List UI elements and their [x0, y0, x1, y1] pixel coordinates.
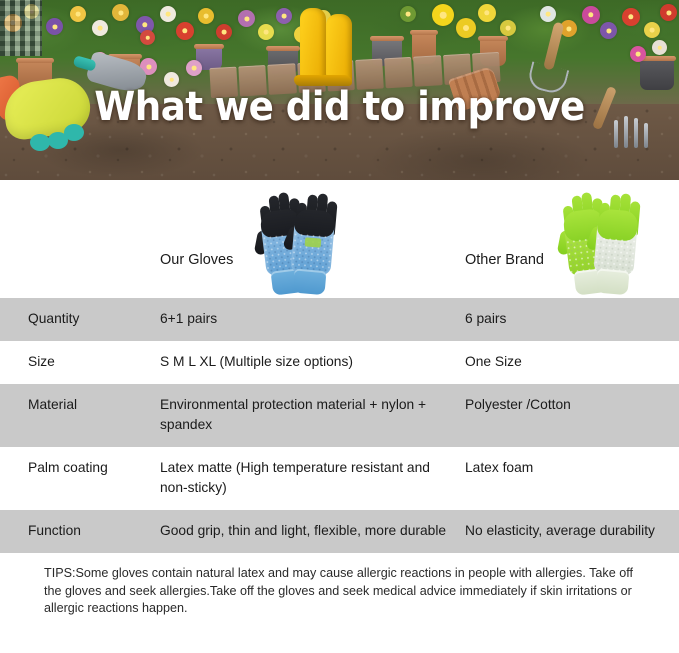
flower: [644, 22, 660, 38]
row-value-ours: Environmental protection material + nylo…: [160, 395, 465, 435]
row-feature-label: Palm coating: [0, 458, 160, 478]
flower: [622, 8, 640, 26]
flower: [46, 18, 63, 35]
flower: [582, 6, 600, 24]
flower: [660, 4, 677, 21]
row-value-ours: Latex matte (High temperature resistant …: [160, 458, 465, 498]
infographic-page: What we did to improve Our Gloves: [0, 0, 679, 653]
hero-banner: What we did to improve: [0, 0, 679, 180]
green-white-knit-glove-pair-image: [563, 186, 647, 294]
flower: [652, 40, 667, 55]
our-gloves-label: Our Gloves: [160, 252, 233, 268]
table-row: Palm coating Latex matte (High temperatu…: [0, 447, 679, 510]
row-value-other: One Size: [465, 352, 679, 372]
row-value-other: Latex foam: [465, 458, 679, 478]
flower: [198, 8, 214, 24]
flower: [478, 4, 496, 22]
flower: [92, 20, 108, 36]
flower: [176, 22, 194, 40]
flower: [456, 18, 476, 38]
table-row: Quantity 6+1 pairs 6 pairs: [0, 298, 679, 341]
flower: [400, 6, 416, 22]
flower: [112, 4, 129, 21]
product-column-other: Other Brand: [465, 180, 679, 298]
row-value-ours: S M L XL (Multiple size options): [160, 352, 465, 372]
blue-knit-glove-pair-image: [260, 186, 344, 294]
tips-note: TIPS:Some gloves contain natural latex a…: [0, 553, 679, 618]
table-row: Function Good grip, thin and light, flex…: [0, 510, 679, 553]
flower: [432, 4, 454, 26]
other-brand-label: Other Brand: [465, 252, 544, 268]
row-feature-label: Material: [0, 395, 160, 415]
flower: [140, 30, 155, 45]
row-value-ours: Good grip, thin and light, flexible, mor…: [160, 521, 465, 541]
flower: [186, 60, 202, 76]
flower: [630, 46, 646, 62]
row-value-other: No elasticity, average durability: [465, 521, 679, 541]
table-row: Size S M L XL (Multiple size options) On…: [0, 341, 679, 384]
flower: [276, 8, 292, 24]
flower: [70, 6, 86, 22]
flower: [500, 20, 516, 36]
table-row: Material Environmental protection materi…: [0, 384, 679, 447]
row-feature-label: Quantity: [0, 309, 160, 329]
flower: [238, 10, 255, 27]
row-feature-label: Function: [0, 521, 160, 541]
row-value-ours: 6+1 pairs: [160, 309, 465, 329]
flower: [600, 22, 617, 39]
product-header-row: Our Gloves: [0, 180, 679, 298]
row-value-other: 6 pairs: [465, 309, 679, 329]
sleeve-fabric: [0, 0, 42, 56]
flower: [258, 24, 274, 40]
product-column-ours: Our Gloves: [160, 180, 460, 298]
row-value-other: Polyester /Cotton: [465, 395, 679, 415]
flower: [216, 24, 232, 40]
row-feature-label: Size: [0, 352, 160, 372]
rain-boots: [300, 8, 362, 86]
comparison-table: Quantity 6+1 pairs 6 pairs Size S M L XL…: [0, 298, 679, 553]
flower: [160, 6, 176, 22]
page-title: What we did to improve: [24, 85, 655, 129]
